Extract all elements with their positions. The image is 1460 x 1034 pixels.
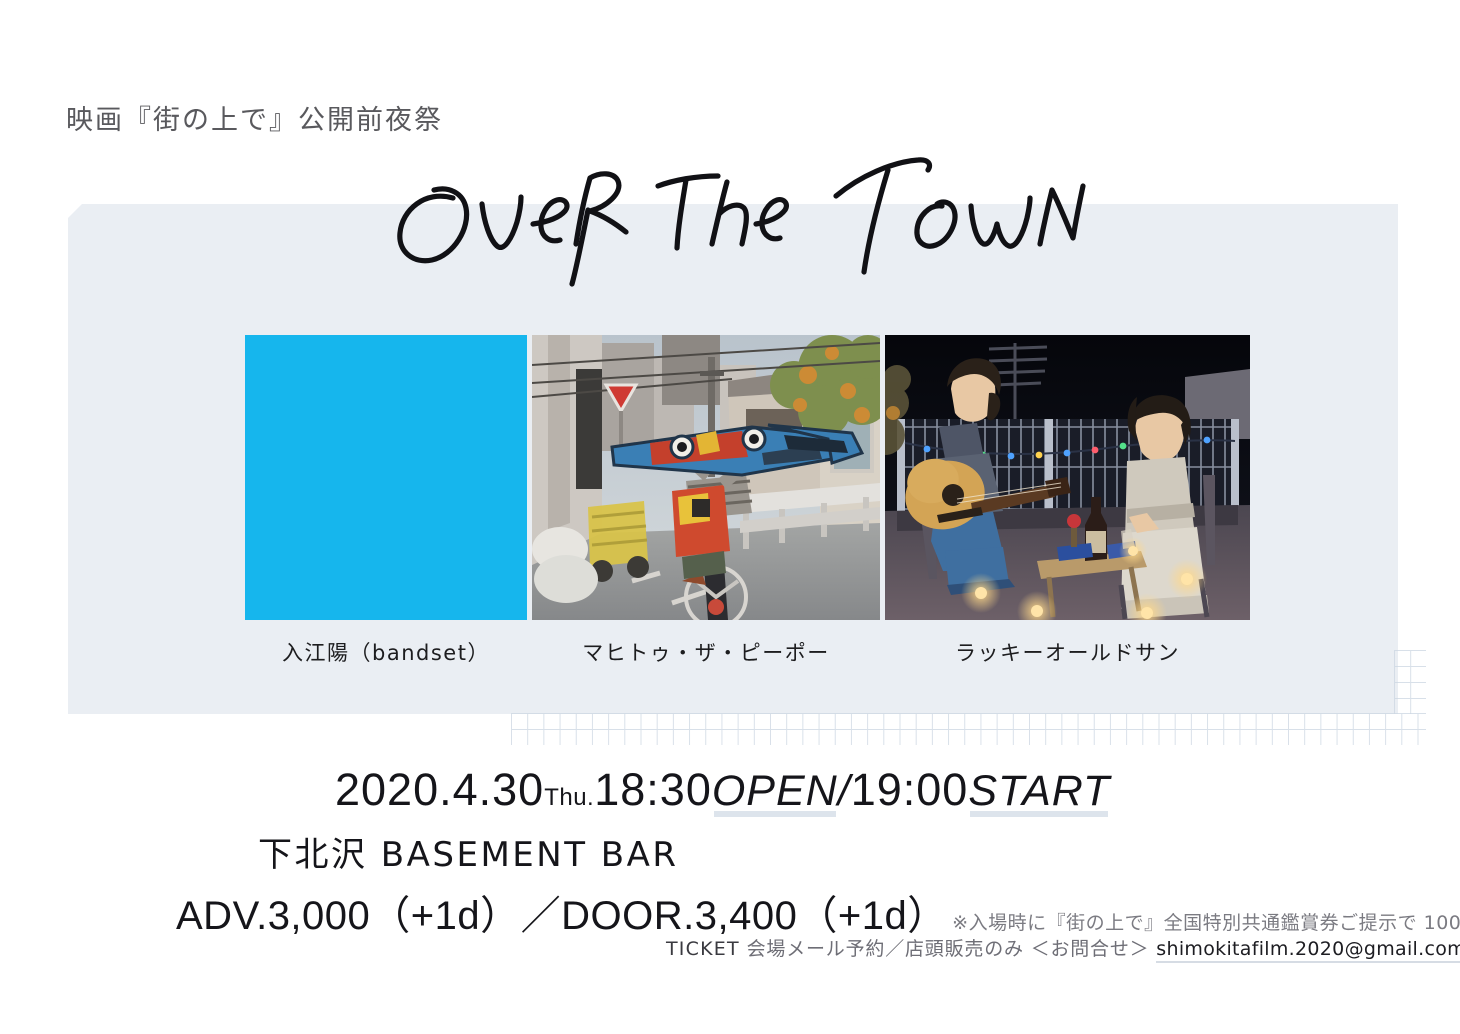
price-line: ADV.3,000（+1d）／DOOR.3,400（+1d） ※入場時に『街の上… (176, 883, 1460, 941)
artist-image-3 (885, 335, 1250, 620)
ticket-label: TICKET (666, 938, 740, 960)
venue-name: 下北沢 BASEMENT BAR (258, 827, 679, 876)
artist-image-row (245, 335, 1250, 620)
illustration-background (245, 335, 527, 620)
contact-email[interactable]: shimokitafilm.2020@gmail.com (1156, 938, 1460, 963)
artist-caption-3: ラッキーオールドサン (885, 637, 1250, 671)
grid-pattern-strip (511, 713, 1426, 745)
open-label: OPEN (712, 767, 838, 815)
time-separator: / (838, 767, 851, 815)
start-time: 19:00 (851, 764, 969, 815)
start-label: START (968, 767, 1110, 815)
grid-pattern-column (1394, 650, 1426, 714)
ticket-method: 会場メール予約／店頭販売のみ (747, 938, 1024, 960)
event-datetime-line: 2020.4.30Thu.18:30OPEN/19:00START (335, 764, 1110, 816)
artist-caption-2: マヒトゥ・ザ・ピーポー (532, 637, 880, 671)
photo-mahito-the-people (532, 335, 880, 620)
photo-lucky-old-sun (885, 335, 1250, 620)
artist-caption-row: 入江陽（bandset） マヒトゥ・ザ・ピーポー ラッキーオールドサン (245, 637, 1250, 671)
price-note: ※入場時に『街の上で』全国特別共通鑑賞券ご提示で 100 円引き (952, 912, 1460, 934)
artist-image-2 (532, 335, 880, 620)
page-subtitle: 映画『街の上で』公開前夜祭 (66, 98, 443, 137)
price-amounts: ADV.3,000（+1d）／DOOR.3,400（+1d） (176, 894, 948, 938)
contact-label: ＜お問合せ＞ (1031, 938, 1150, 960)
open-time: 18:30 (594, 764, 712, 815)
artist-caption-1: 入江陽（bandset） (245, 637, 527, 671)
artist-image-1 (245, 335, 527, 620)
ticket-line: TICKET 会場メール予約／店頭販売のみ ＜お問合せ＞ shimokitafi… (666, 934, 1460, 961)
event-weekday: Thu. (544, 784, 594, 811)
event-date: 2020.4.30 (335, 764, 544, 815)
